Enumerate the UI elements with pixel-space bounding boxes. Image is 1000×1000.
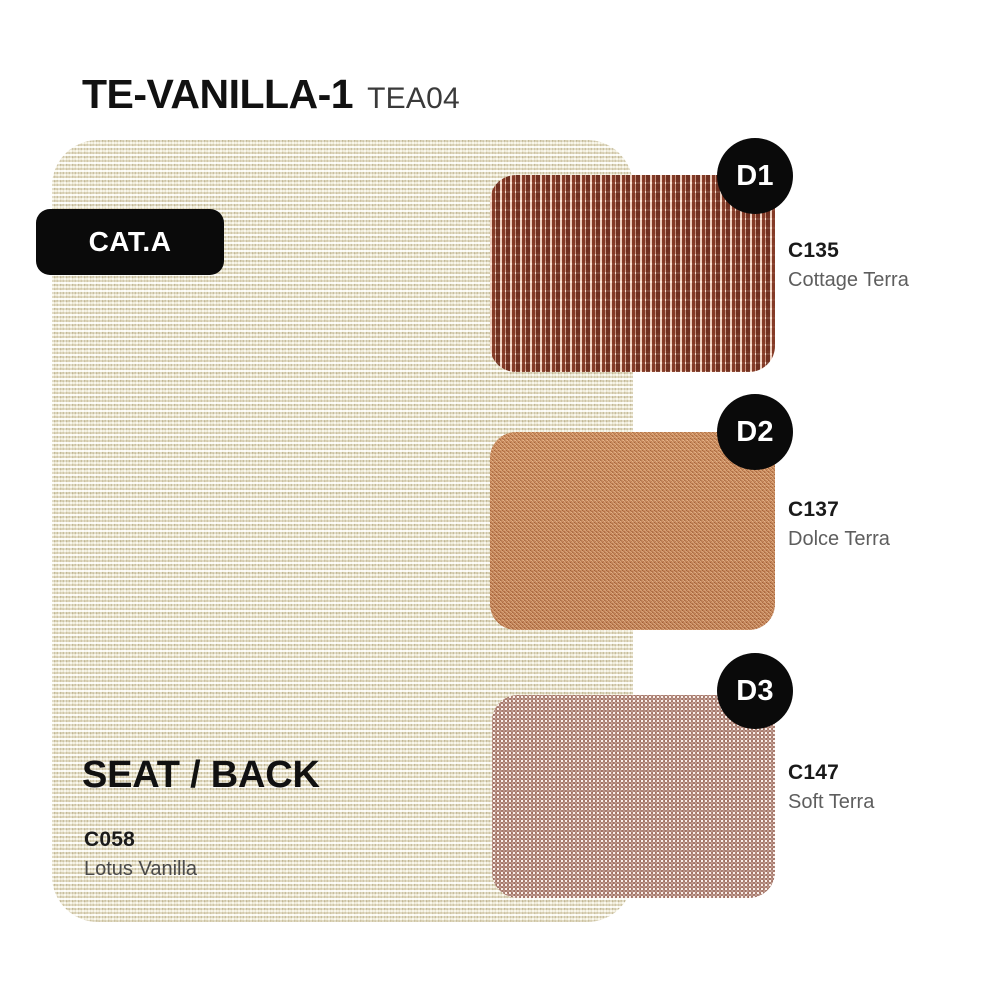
seat-back-label: SEAT / BACK [82,756,320,794]
caption-d3: C147 Soft Terra [788,760,988,815]
caption-d1: C135 Cottage Terra [788,238,988,293]
page-title: TE-VANILLA-1 TEA04 [82,74,460,115]
badge-d2-label: D2 [736,416,773,449]
caption-d2-code: C137 [788,497,988,523]
caption-d2: C137 Dolce Terra [788,497,988,552]
caption-d2-name: Dolce Terra [788,526,988,552]
badge-d3[interactable]: D3 [717,653,793,729]
caption-seat-back: C058 Lotus Vanilla [84,827,344,882]
badge-d2[interactable]: D2 [717,394,793,470]
fabric-colorway-card: TE-VANILLA-1 TEA04 CAT.A D1 D2 D3 C135 C… [0,0,1000,1000]
collection-code: TEA04 [367,84,460,114]
caption-d3-code: C147 [788,760,988,786]
caption-d1-name: Cottage Terra [788,267,988,293]
caption-seat-back-name: Lotus Vanilla [84,856,344,882]
badge-d1[interactable]: D1 [717,138,793,214]
category-badge[interactable]: CAT.A [36,209,224,275]
caption-d3-name: Soft Terra [788,789,988,815]
badge-d3-label: D3 [736,675,773,708]
caption-d1-code: C135 [788,238,988,264]
category-badge-label: CAT.A [89,226,172,258]
swatch-option-d3[interactable] [492,695,775,898]
caption-seat-back-code: C058 [84,827,344,853]
collection-title: TE-VANILLA-1 [82,74,353,115]
badge-d1-label: D1 [736,160,773,193]
